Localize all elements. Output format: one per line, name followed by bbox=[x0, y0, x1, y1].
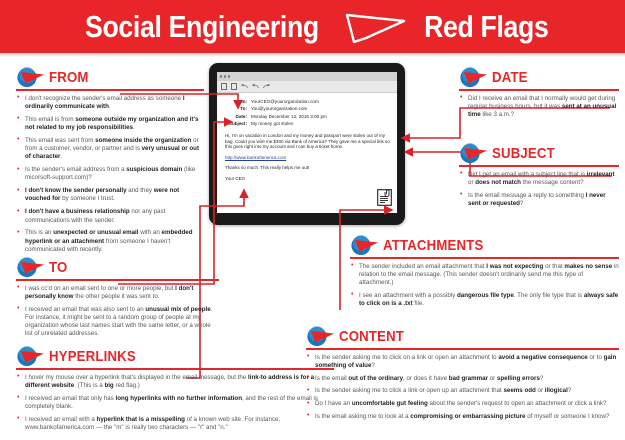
bullet-item: Did I receive an email that I normally w… bbox=[459, 95, 619, 120]
email-field-date: Date: Monday December 12, 2016 3:00 pm bbox=[221, 113, 392, 120]
field-label: Date: bbox=[221, 113, 247, 120]
email-body-paragraph: Hi, I'm on vacation in London and my mon… bbox=[225, 133, 392, 151]
window-dot-icon bbox=[220, 75, 222, 77]
section-attachments-header: ATTACHMENTS bbox=[350, 234, 619, 256]
section-attachments-bullets: The sender included an email attachment … bbox=[350, 263, 619, 309]
email-window-titlebar bbox=[217, 72, 397, 81]
field-label: From: bbox=[221, 98, 247, 105]
section-title: TO bbox=[49, 259, 67, 276]
section-rule bbox=[350, 257, 619, 259]
bullet-item: I received an email that was also sent t… bbox=[16, 306, 219, 339]
page-title-left: Social Engineering bbox=[85, 9, 319, 45]
email-field-subject: Subject: My money got stolen bbox=[221, 120, 392, 127]
bullet-item: I hover my mouse over a hyperlink that's… bbox=[16, 374, 334, 391]
bullet-item: This email is from someone outside my or… bbox=[16, 116, 204, 133]
section-subject: SUBJECT Did I get an email with a subjec… bbox=[459, 142, 619, 213]
bullet-item: Is the email asking me to look at a comp… bbox=[306, 413, 619, 421]
field-label: Subject: bbox=[221, 120, 247, 127]
section-title: FROM bbox=[49, 69, 89, 86]
section-date-header: DATE bbox=[459, 66, 619, 88]
bullet-item: I don't know the sender personally and t… bbox=[16, 187, 204, 204]
bullet-item: Is the email message a reply to somethin… bbox=[459, 192, 619, 209]
red-flag-badge-icon bbox=[16, 257, 46, 278]
section-hyperlinks-header: HYPERLINKS bbox=[16, 345, 334, 367]
bullet-item: I received an email that only has long h… bbox=[16, 395, 334, 412]
delete-icon[interactable] bbox=[221, 83, 227, 90]
email-body: Hi, I'm on vacation in London and my mon… bbox=[217, 128, 397, 182]
bullet-item: I don't recognize the sender's email add… bbox=[16, 95, 204, 112]
section-title: SUBJECT bbox=[492, 145, 555, 162]
section-hyperlinks-bullets: I hover my mouse over a hyperlink that's… bbox=[16, 374, 334, 433]
bullet-item: This email was sent from someone inside … bbox=[16, 137, 204, 162]
email-toolbar[interactable] bbox=[217, 81, 397, 93]
bullet-item: Did I get an email with a subject line t… bbox=[459, 171, 619, 188]
email-body-closing: Thanks so much. This really helps me out… bbox=[225, 165, 392, 171]
section-date: DATE Did I receive an email that I norma… bbox=[459, 66, 619, 124]
section-rule bbox=[459, 89, 619, 91]
bullet-item: Do I have an uncomfortable gut feeling a… bbox=[306, 400, 619, 408]
section-date-bullets: Did I receive an email that I normally w… bbox=[459, 95, 619, 120]
section-rule bbox=[459, 165, 619, 167]
red-flag-outline-icon bbox=[344, 11, 408, 45]
bullet-item: Is the sender asking me to click a link … bbox=[306, 387, 619, 395]
email-header-fields: From: YourCEO@yourorganization.com To: Y… bbox=[217, 93, 397, 128]
reply-icon[interactable] bbox=[241, 84, 248, 89]
infographic-page: Social Engineering Red Flags bbox=[0, 0, 625, 440]
bullet-item: I see an attachment with a possibly dang… bbox=[350, 292, 619, 309]
red-flag-badge-icon bbox=[16, 346, 46, 367]
red-flag-badge-icon bbox=[350, 235, 380, 256]
section-content: CONTENT Is the sender asking me to click… bbox=[306, 325, 619, 426]
section-rule bbox=[16, 279, 219, 281]
section-content-header: CONTENT bbox=[306, 325, 619, 347]
page-title-right: Red Flags bbox=[424, 9, 548, 45]
bullet-item: Is the sender asking me to click on a li… bbox=[306, 354, 619, 371]
section-attachments: ATTACHMENTS The sender included an email… bbox=[350, 234, 619, 313]
field-value: YourCEO@yourorganization.com bbox=[251, 98, 319, 105]
section-rule bbox=[306, 348, 619, 350]
email-body-hyperlink[interactable]: http://www.bankofamerica.com bbox=[225, 155, 286, 160]
section-subject-bullets: Did I get an email with a subject line t… bbox=[459, 171, 619, 209]
section-content-bullets: Is the sender asking me to click on a li… bbox=[306, 354, 619, 422]
section-from-header: FROM bbox=[16, 66, 204, 88]
window-dot-icon bbox=[224, 75, 226, 77]
section-to-bullets: I was cc'd on an email sent to one or mo… bbox=[16, 285, 219, 339]
section-title: DATE bbox=[492, 69, 528, 86]
field-value: Monday December 12, 2016 3:00 pm bbox=[251, 113, 327, 120]
attachment-document-icon[interactable] bbox=[377, 189, 392, 206]
field-value: My money got stolen bbox=[251, 120, 293, 127]
email-field-from: From: YourCEO@yourorganization.com bbox=[221, 98, 392, 105]
header-shadow bbox=[0, 53, 625, 57]
section-hyperlinks: HYPERLINKS I hover my mouse over a hyper… bbox=[16, 345, 334, 437]
email-field-to: To: You@yourorganization.com bbox=[221, 105, 392, 112]
bullet-item: I was cc'd on an email sent to one or mo… bbox=[16, 285, 219, 302]
forward-icon[interactable] bbox=[263, 84, 270, 89]
bullet-item: Is the sender's email address from a sus… bbox=[16, 166, 204, 183]
page-header-banner: Social Engineering Red Flags bbox=[0, 0, 625, 53]
section-from-bullets: I don't recognize the sender's email add… bbox=[16, 95, 204, 255]
red-flag-badge-icon bbox=[459, 143, 489, 164]
red-flag-badge-icon bbox=[16, 67, 46, 88]
email-mockup-device: From: YourCEO@yourorganization.com To: Y… bbox=[209, 63, 405, 225]
red-flag-badge-icon bbox=[306, 326, 336, 347]
section-to-header: TO bbox=[16, 256, 219, 278]
section-from: FROM I don't recognize the sender's emai… bbox=[16, 66, 204, 259]
bullet-item: I don't have a business relationship nor… bbox=[16, 208, 204, 225]
reply-all-icon[interactable] bbox=[252, 84, 259, 89]
section-rule bbox=[16, 368, 334, 370]
bullet-item: The sender included an email attachment … bbox=[350, 263, 619, 288]
archive-icon[interactable] bbox=[231, 83, 237, 90]
bullet-item: This is an unexpected or unusual email w… bbox=[16, 229, 204, 254]
section-title: CONTENT bbox=[339, 328, 404, 345]
window-dot-icon bbox=[228, 75, 230, 77]
section-title: HYPERLINKS bbox=[49, 348, 136, 365]
section-to: TO I was cc'd on an email sent to one or… bbox=[16, 256, 219, 343]
section-rule bbox=[16, 89, 204, 91]
section-subject-header: SUBJECT bbox=[459, 142, 619, 164]
red-flag-badge-icon bbox=[459, 67, 489, 88]
section-title: ATTACHMENTS bbox=[383, 237, 483, 254]
bullet-item: I received an email with a hyperlink tha… bbox=[16, 416, 334, 433]
field-label: To: bbox=[221, 105, 247, 112]
email-body-signature: Your CEO bbox=[225, 176, 392, 182]
field-value: You@yourorganization.com bbox=[251, 105, 307, 112]
bullet-item: Is the email out of the ordinary, or doe… bbox=[306, 375, 619, 383]
email-client-screen: From: YourCEO@yourorganization.com To: Y… bbox=[217, 72, 397, 213]
